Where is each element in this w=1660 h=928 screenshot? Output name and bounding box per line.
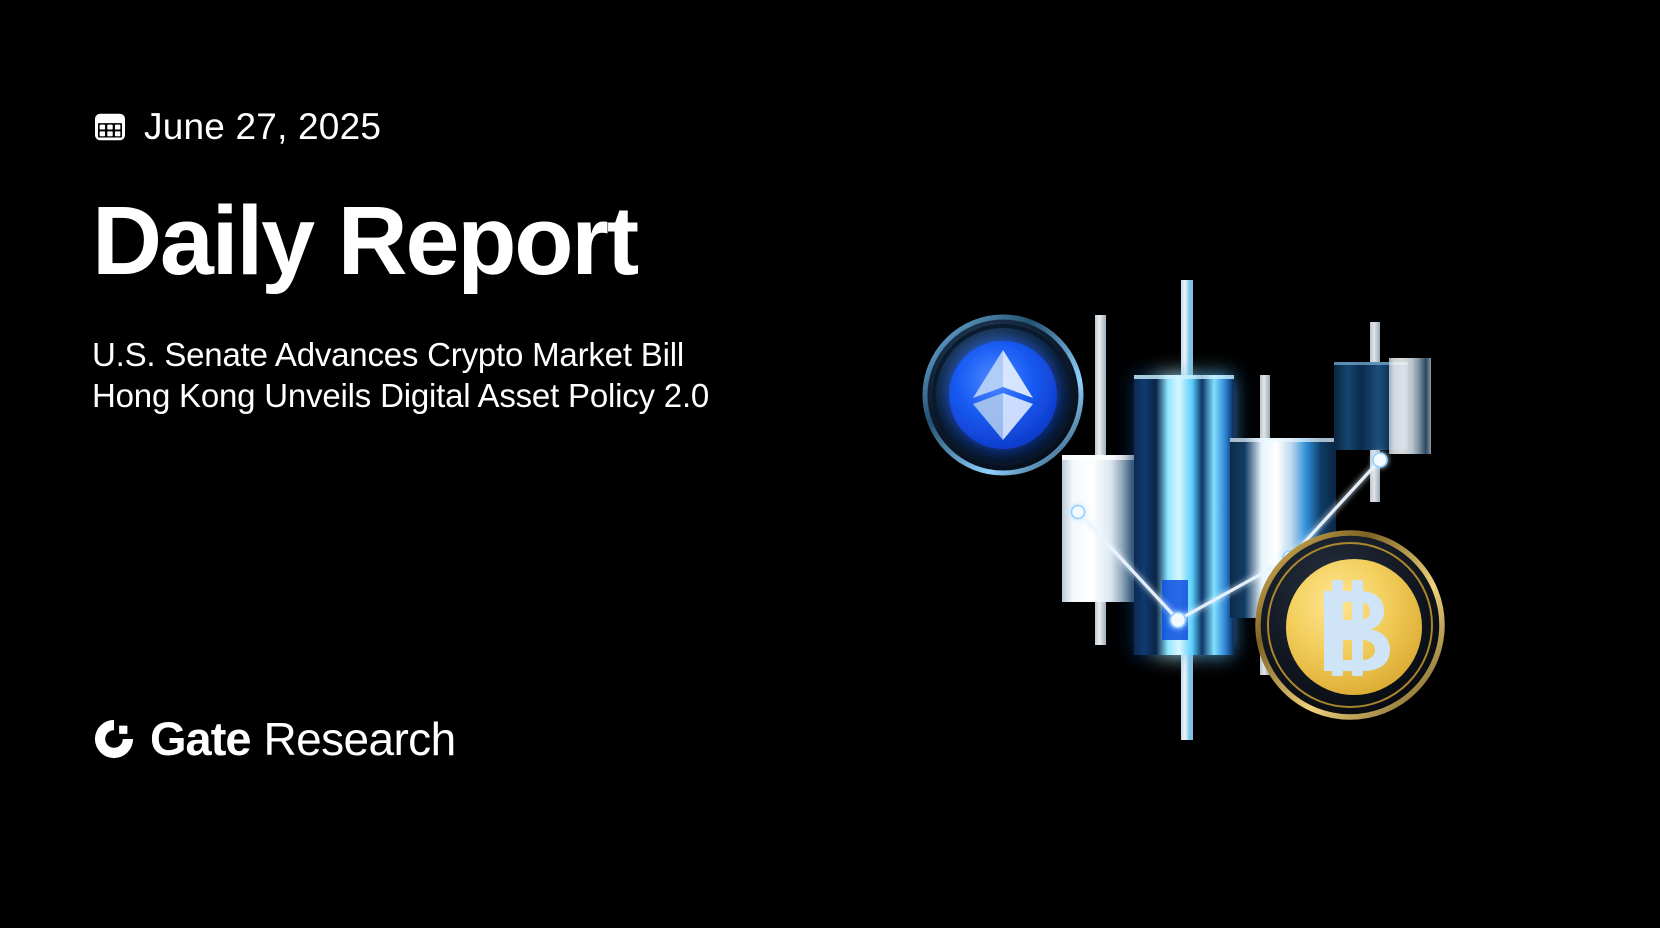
ethereum-icon [925, 317, 1081, 473]
brand-name: Gate [150, 715, 251, 762]
crypto-chart-artwork [900, 280, 1520, 800]
brand-text: Gate Research [150, 715, 456, 762]
brand-lockup: Gate Research [92, 715, 456, 762]
page-title: Daily Report [92, 192, 637, 291]
candle-2 [1134, 280, 1234, 740]
subtitle-line-1: U.S. Senate Advances Crypto Market Bill [92, 334, 709, 375]
bitcoin-icon [1258, 533, 1442, 717]
calendar-icon [92, 109, 128, 145]
poster-canvas: June 27, 2025 Daily Report U.S. Senate A… [0, 0, 1660, 928]
subtitle-block: U.S. Senate Advances Crypto Market Bill … [92, 334, 709, 416]
date-row: June 27, 2025 [92, 108, 381, 145]
subtitle-line-2: Hong Kong Unveils Digital Asset Policy 2… [92, 375, 709, 416]
candle-4 [1334, 322, 1431, 502]
gate-logo-icon [92, 717, 136, 761]
brand-suffix: Research [264, 716, 456, 762]
report-date: June 27, 2025 [144, 108, 381, 145]
text-column: June 27, 2025 Daily Report U.S. Senate A… [92, 0, 892, 928]
